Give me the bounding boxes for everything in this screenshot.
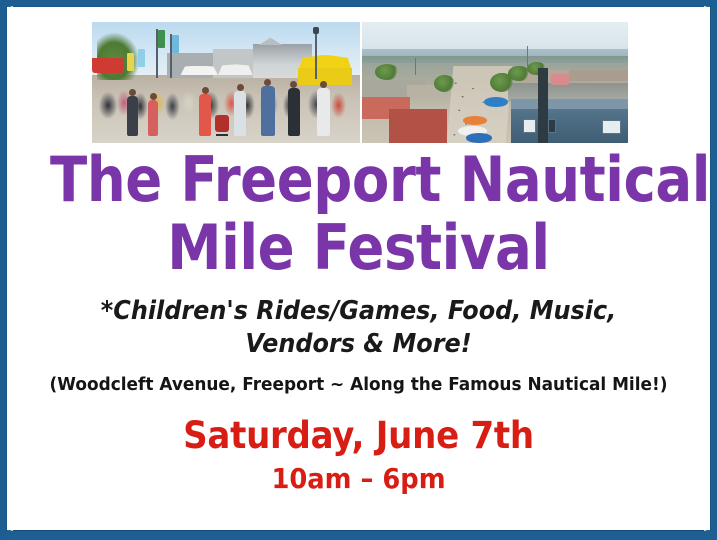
photo-person — [148, 100, 158, 136]
event-subtitle-line-2: Vendors & More! — [36, 328, 681, 361]
photo-blue-tent — [466, 133, 493, 143]
event-title-line-1: The Freeport Nautical — [50, 146, 667, 214]
photo-lamp-head — [313, 27, 319, 34]
photo-banner-flag — [172, 35, 179, 53]
photo-tent — [551, 74, 570, 85]
photo-person — [288, 88, 300, 136]
photo-window — [602, 120, 620, 133]
nautical-mile-aerial-photo — [362, 22, 628, 143]
photo-person — [127, 96, 138, 136]
photo-person — [234, 91, 246, 136]
photo-blue-tent — [484, 97, 508, 107]
photo-person — [261, 86, 275, 136]
photo-utility-pole — [538, 68, 549, 143]
event-title: The Freeport Nautical Mile Festival — [8, 146, 709, 282]
photo-rooftop — [569, 70, 628, 81]
event-date-block: Saturday, June 7th 10am – 6pm — [8, 413, 709, 497]
event-title-line-2: Mile Festival — [50, 214, 667, 282]
photo-red-awning — [92, 58, 124, 73]
photo-lamp-post — [315, 28, 317, 79]
poster-content: The Freeport Nautical Mile Festival *Chi… — [8, 8, 709, 529]
event-flyer-poster: The Freeport Nautical Mile Festival *Chi… — [0, 0, 717, 540]
photo-red-rooftop — [389, 109, 448, 143]
photo-banner-flag — [138, 49, 145, 67]
photo-orange-umbrella — [463, 116, 487, 124]
photo-mast — [415, 58, 416, 75]
photo-person — [317, 88, 330, 136]
photo-banner — [92, 22, 628, 143]
event-subtitle-line-1: *Children's Rides/Games, Food, Music, — [36, 295, 681, 328]
photo-mast — [527, 46, 528, 68]
photo-person — [199, 94, 211, 136]
photo-window — [523, 119, 537, 133]
event-location-note: (Woodcleft Avenue, Freeport ~ Along the … — [29, 373, 688, 397]
photo-white-tent — [180, 66, 218, 76]
street-festival-crowd-photo — [92, 22, 360, 143]
event-date: Saturday, June 7th — [36, 413, 681, 459]
photo-white-tent — [218, 64, 253, 75]
photo-blue-building — [511, 99, 628, 143]
photo-stroller — [215, 115, 229, 132]
photo-banner-flag — [127, 53, 134, 71]
photo-banner-flag — [158, 30, 165, 48]
photo-window — [548, 119, 556, 133]
event-subtitle: *Children's Rides/Games, Food, Music, Ve… — [8, 295, 709, 361]
event-hours: 10am – 6pm — [36, 461, 681, 497]
